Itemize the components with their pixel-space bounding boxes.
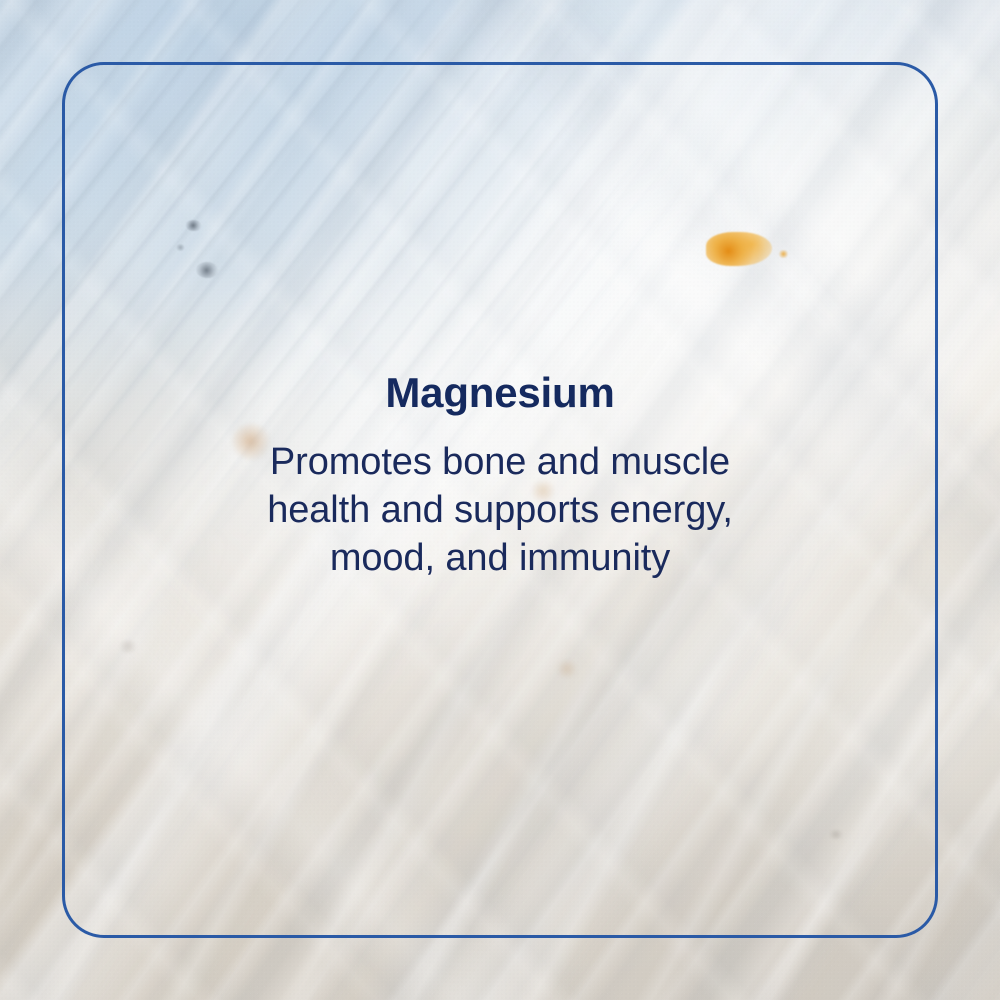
grey-inclusion-b-icon	[196, 262, 218, 278]
amber-inclusion-dot-icon	[778, 250, 789, 258]
grey-inclusion-e-icon	[118, 640, 138, 653]
ingredient-title: Magnesium	[0, 372, 1000, 414]
description-line-1: Promotes bone and muscle	[0, 438, 1000, 486]
grey-inclusion-a-icon	[186, 220, 202, 231]
description-line-2: health and supports energy,	[0, 486, 1000, 534]
description-line-3: mood, and immunity	[0, 534, 1000, 582]
rust-inclusion-lower-icon	[556, 660, 578, 678]
card-copy: Magnesium Promotes bone and muscle healt…	[0, 372, 1000, 582]
grey-inclusion-d-icon	[828, 830, 844, 839]
grey-inclusion-c-icon	[176, 244, 185, 251]
ingredient-description: Promotes bone and muscle health and supp…	[0, 414, 1000, 582]
ingredient-card: Magnesium Promotes bone and muscle healt…	[0, 0, 1000, 1000]
